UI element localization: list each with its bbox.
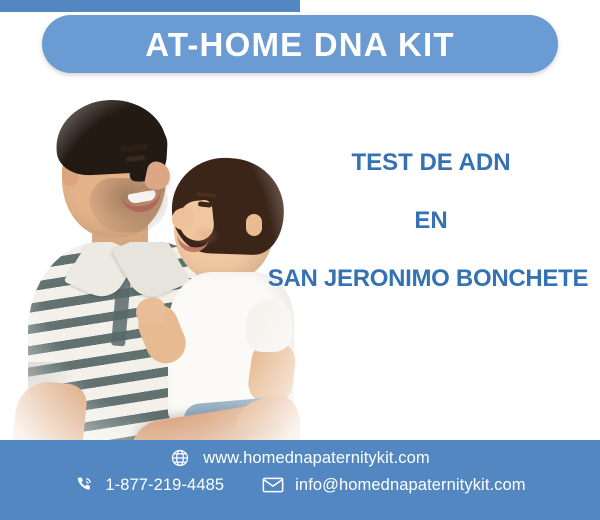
child-ear [246,214,262,236]
headline-line-1: TEST DE ADN [262,150,600,175]
banner-title: AT-HOME DNA KIT [145,28,454,61]
headline-line-3: SAN JERONIMO BONCHETE [256,266,600,291]
phone-icon [74,475,94,495]
footer-bar: www.homednapaternitykit.com 1-877-219-44… [0,440,600,520]
child-sleeve [246,300,292,352]
banner-pill: AT-HOME DNA KIT [42,15,558,73]
footer-contact-row: 1-877-219-4485 info@homednapaternitykit.… [0,475,600,495]
family-photo [0,82,300,450]
footer-website-row: www.homednapaternitykit.com [0,448,600,468]
footer-notch [0,0,300,12]
phone-contact[interactable]: 1-877-219-4485 [74,475,224,495]
headline-line-2: EN [262,208,600,233]
website-text[interactable]: www.homednapaternitykit.com [203,449,429,468]
poster: AT-HOME DNA KIT [0,0,600,520]
globe-icon [170,448,190,468]
email-contact[interactable]: info@homednapaternitykit.com [262,476,526,495]
envelope-icon [262,476,284,494]
phone-text[interactable]: 1-877-219-4485 [105,476,224,495]
headline-block: TEST DE ADN EN SAN JERONIMO BONCHETE [262,150,600,292]
email-text[interactable]: info@homednapaternitykit.com [295,476,526,495]
photo-illustration [0,82,300,450]
